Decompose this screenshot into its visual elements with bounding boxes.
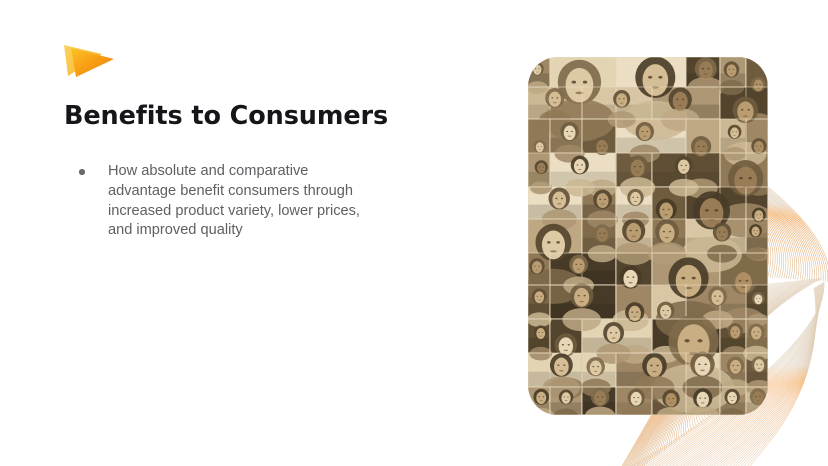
slide-canvas: Benefits to Consumers How absolute and c… xyxy=(0,0,828,466)
play-triangle-logo xyxy=(62,42,118,80)
bullet-text: How absolute and comparative advantage b… xyxy=(108,163,360,238)
people-collage-image xyxy=(528,57,768,415)
bullet-dot-icon xyxy=(79,169,85,175)
list-item: How absolute and comparative advantage b… xyxy=(64,162,364,241)
bullet-list: How absolute and comparative advantage b… xyxy=(64,162,364,241)
page-title: Benefits to Consumers xyxy=(64,101,388,131)
